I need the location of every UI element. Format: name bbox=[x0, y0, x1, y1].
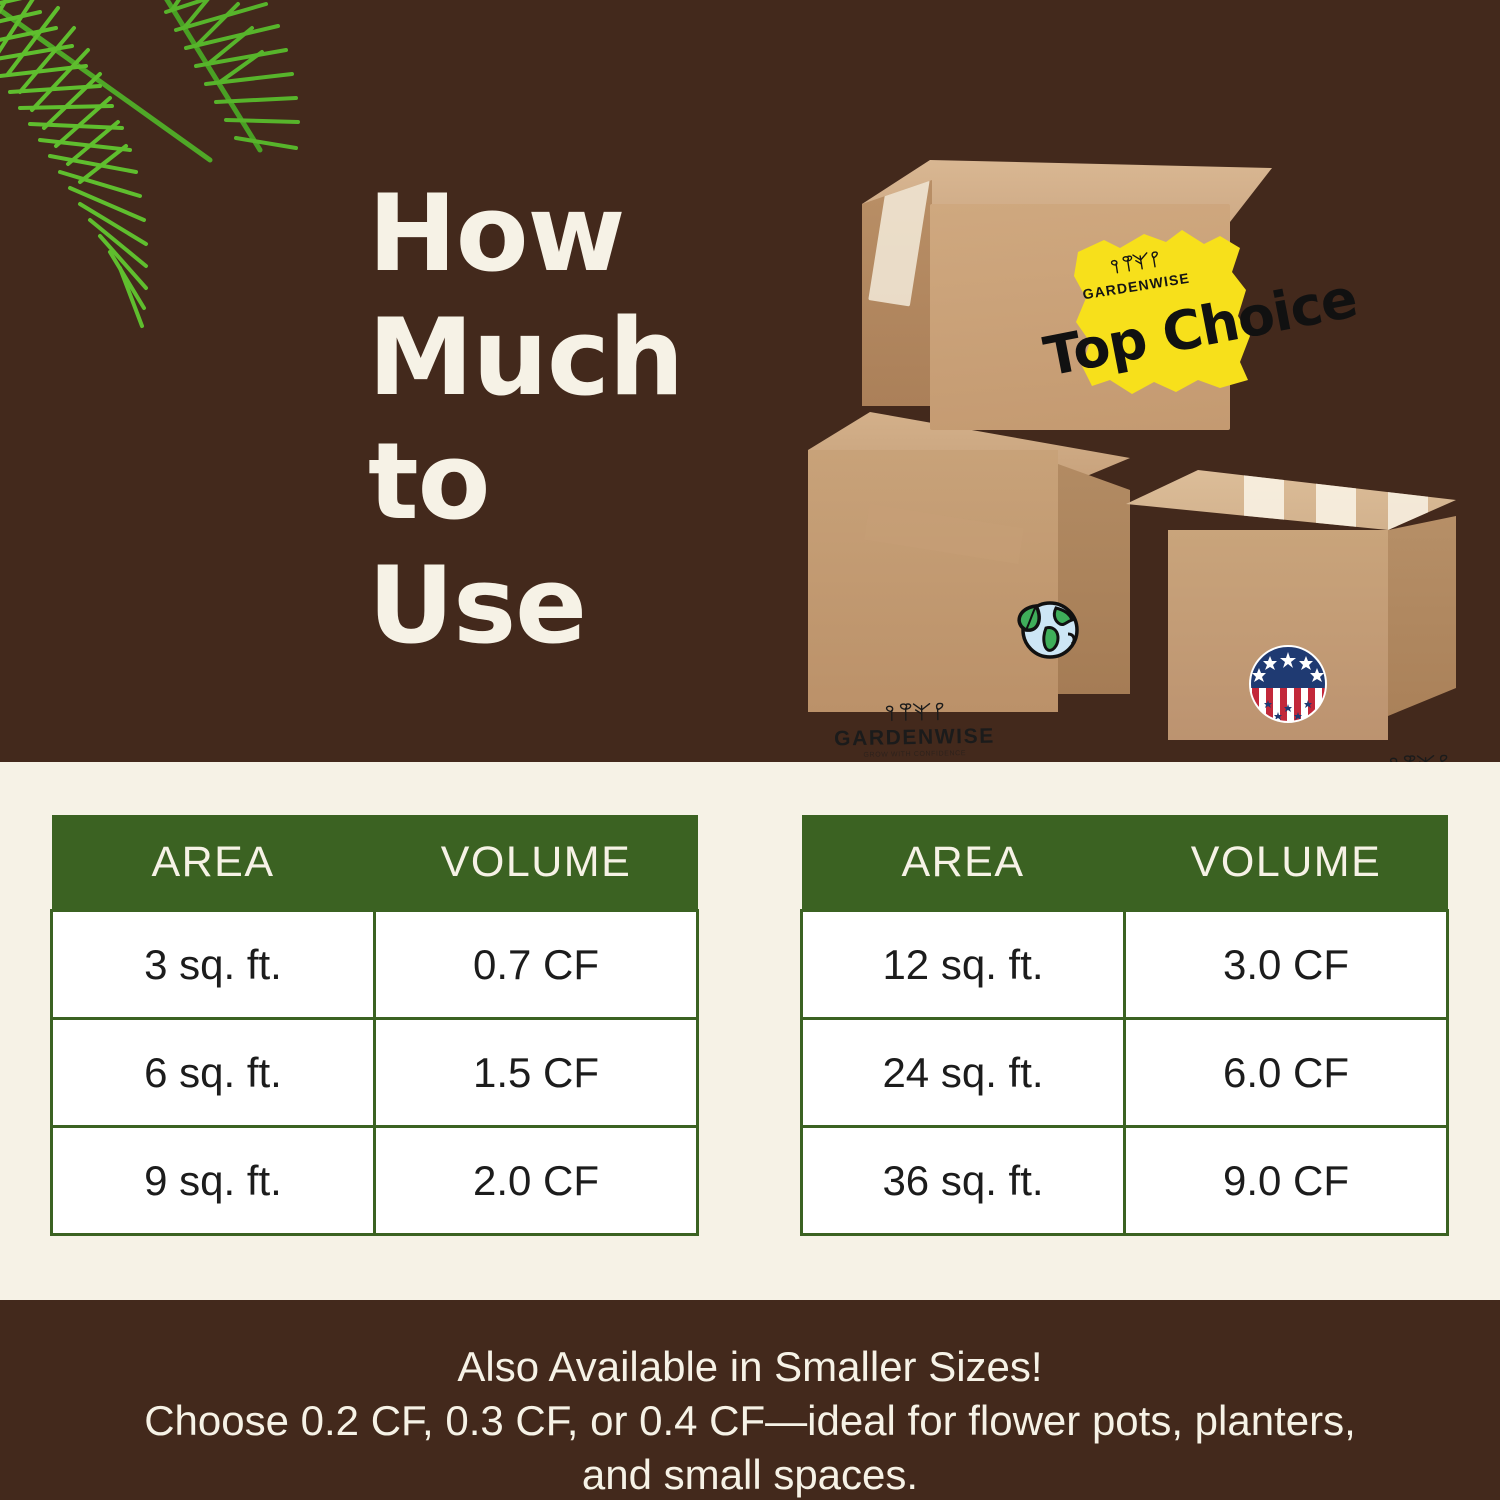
cell-area: 36 sq. ft. bbox=[802, 1127, 1125, 1235]
box-side-face bbox=[1388, 516, 1456, 716]
page-title: How Much to Use bbox=[368, 172, 788, 668]
cell-area: 12 sq. ft. bbox=[802, 911, 1125, 1019]
cell-area: 9 sq. ft. bbox=[52, 1127, 375, 1235]
headline-line-3: Use bbox=[368, 544, 788, 668]
cell-volume: 2.0 CF bbox=[375, 1127, 698, 1235]
coverage-table-left: AREA VOLUME 3 sq. ft. 0.7 CF 6 sq. ft. 1… bbox=[50, 815, 699, 1236]
table-row: 24 sq. ft. 6.0 CF bbox=[802, 1019, 1448, 1127]
headline-line-1: How bbox=[368, 172, 788, 296]
usa-flag-badge-icon bbox=[1248, 644, 1328, 724]
footer-line-1: Also Available in Smaller Sizes! bbox=[0, 1340, 1500, 1394]
column-header-volume: VOLUME bbox=[375, 815, 698, 911]
table-header-row: AREA VOLUME bbox=[52, 815, 698, 911]
box-side-face bbox=[862, 180, 932, 406]
table-row: 9 sq. ft. 2.0 CF bbox=[52, 1127, 698, 1235]
table-row: 36 sq. ft. 9.0 CF bbox=[802, 1127, 1448, 1235]
box-front-face: GARDENWISE GROW WITH CONFIDENCE bbox=[1168, 530, 1388, 740]
product-infographic: How Much to Use bbox=[0, 0, 1500, 1500]
packing-tape-icon bbox=[868, 174, 930, 307]
cell-area: 3 sq. ft. bbox=[52, 911, 375, 1019]
gardenwise-logo: GARDENWISE GROW WITH CONFIDENCE bbox=[1338, 751, 1500, 762]
cell-volume: 3.0 CF bbox=[1125, 911, 1448, 1019]
cell-volume: 0.7 CF bbox=[375, 911, 698, 1019]
table-row: 3 sq. ft. 0.7 CF bbox=[52, 911, 698, 1019]
box-front-face: GARDENWISE GROW WITH CONFIDENCE bbox=[808, 450, 1058, 712]
footer-band: Also Available in Smaller Sizes! Choose … bbox=[0, 1300, 1500, 1500]
sprout-icon bbox=[882, 699, 946, 722]
palm-frond-icon bbox=[0, 0, 390, 370]
eco-earth-icon bbox=[1006, 592, 1082, 662]
product-boxes-illustration: GARDENWISE GROW WITH CONFIDENCE bbox=[790, 140, 1480, 730]
footer-line-2: Choose 0.2 CF, 0.3 CF, or 0.4 CF—ideal f… bbox=[0, 1394, 1500, 1448]
box-front-face: GARDENWISE Top Choice bbox=[930, 204, 1230, 430]
column-header-area: AREA bbox=[52, 815, 375, 911]
box-top: GARDENWISE Top Choice bbox=[862, 160, 1272, 430]
column-header-volume: VOLUME bbox=[1125, 815, 1448, 911]
coverage-table-right: AREA VOLUME 12 sq. ft. 3.0 CF 24 sq. ft.… bbox=[800, 815, 1449, 1236]
box-bottom-left: GARDENWISE GROW WITH CONFIDENCE bbox=[808, 412, 1128, 712]
cell-area: 24 sq. ft. bbox=[802, 1019, 1125, 1127]
tables-section: AREA VOLUME 3 sq. ft. 0.7 CF 6 sq. ft. 1… bbox=[0, 762, 1500, 1300]
table-header-row: AREA VOLUME bbox=[802, 815, 1448, 911]
logo-tagline: GROW WITH CONFIDENCE bbox=[834, 750, 995, 760]
logo-name: GARDENWISE bbox=[834, 726, 995, 750]
cell-area: 6 sq. ft. bbox=[52, 1019, 375, 1127]
box-bottom-right: GARDENWISE GROW WITH CONFIDENCE bbox=[1126, 470, 1456, 740]
gardenwise-logo: GARDENWISE GROW WITH CONFIDENCE bbox=[834, 699, 996, 760]
footer-line-3: and small spaces. bbox=[0, 1448, 1500, 1500]
cell-volume: 6.0 CF bbox=[1125, 1019, 1448, 1127]
column-header-area: AREA bbox=[802, 815, 1125, 911]
cell-volume: 9.0 CF bbox=[1125, 1127, 1448, 1235]
packing-tape-icon bbox=[864, 504, 1024, 564]
hero-band: How Much to Use bbox=[0, 0, 1500, 762]
cell-volume: 1.5 CF bbox=[375, 1019, 698, 1127]
sprout-icon bbox=[1386, 751, 1450, 762]
table-row: 6 sq. ft. 1.5 CF bbox=[52, 1019, 698, 1127]
table-row: 12 sq. ft. 3.0 CF bbox=[802, 911, 1448, 1019]
headline-line-2: Much to bbox=[368, 296, 788, 544]
